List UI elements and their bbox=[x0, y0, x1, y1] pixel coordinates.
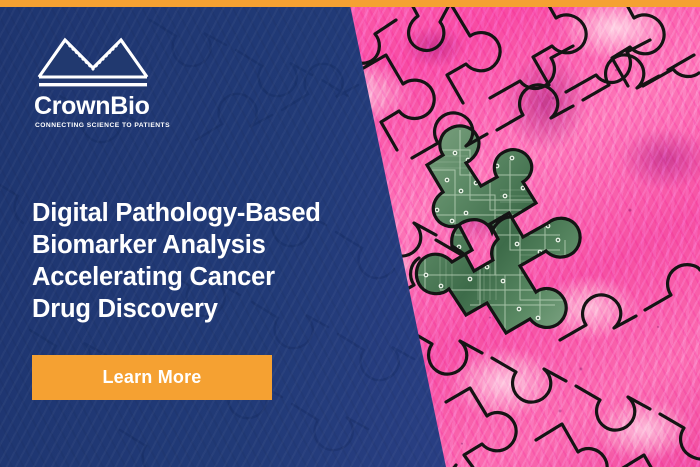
banner-content: CrownBio CONNECTING SCIENCE TO PATIENTS … bbox=[0, 0, 360, 467]
headline-line-1: Digital Pathology-Based bbox=[32, 197, 362, 229]
headline-line-4: Drug Discovery bbox=[32, 293, 362, 325]
page-title: Digital Pathology-Based Biomarker Analys… bbox=[32, 197, 362, 325]
learn-more-button[interactable]: Learn More bbox=[32, 355, 272, 400]
logo-wordmark: CrownBio bbox=[34, 94, 192, 119]
headline-line-2: Biomarker Analysis bbox=[32, 229, 362, 261]
crownbio-crown-logo bbox=[32, 30, 154, 90]
headline-line-3: Accelerating Cancer bbox=[32, 261, 362, 293]
circuit-board-puzzle-piece bbox=[415, 126, 585, 345]
crownbio-logo[interactable]: CrownBio CONNECTING SCIENCE TO PATIENTS bbox=[32, 30, 192, 130]
marketing-banner: CrownBio CONNECTING SCIENCE TO PATIENTS … bbox=[0, 0, 700, 467]
logo-tagline: CONNECTING SCIENCE TO PATIENTS bbox=[35, 123, 192, 130]
